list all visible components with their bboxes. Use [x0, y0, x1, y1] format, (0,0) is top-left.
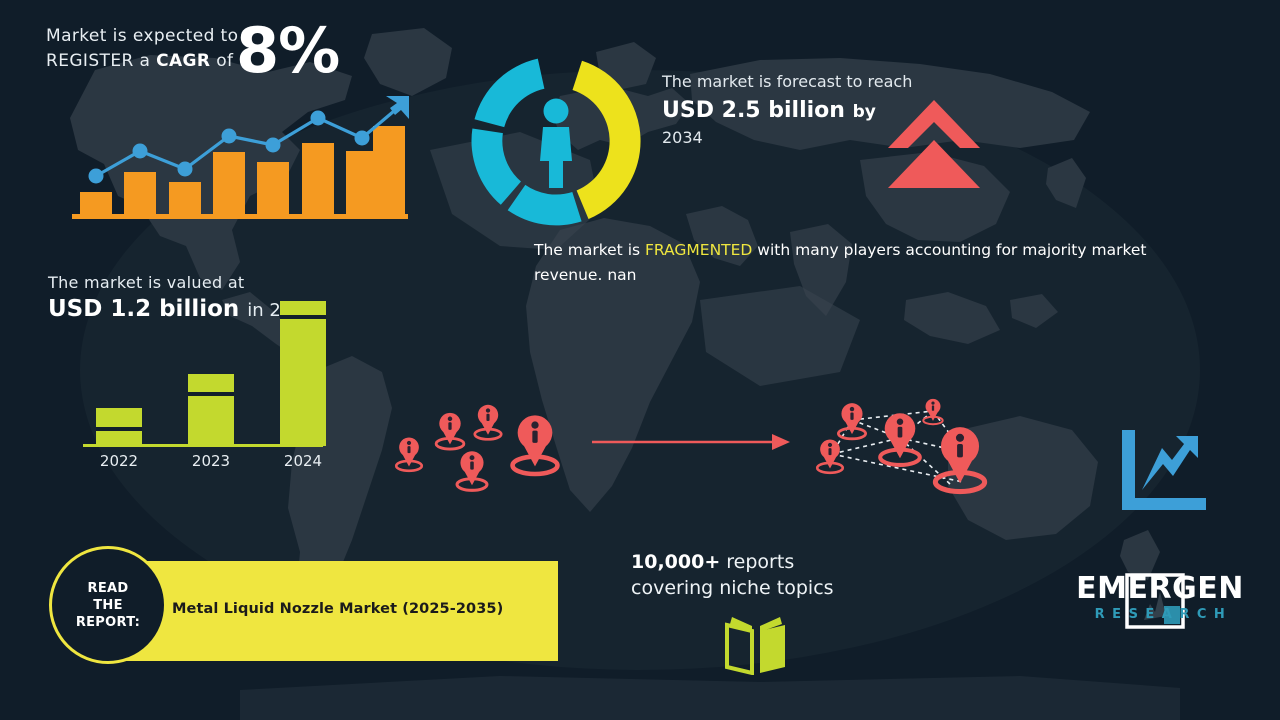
map-pin-person-icon	[475, 405, 501, 440]
map-pin-person-icon	[838, 403, 865, 439]
cagr-register-text: REGISTER a	[46, 51, 156, 71]
fragmented-highlight: FRAGMENTED	[645, 241, 752, 259]
reports-word: reports	[720, 551, 794, 573]
forecast-amount: USD 2.5 billion	[662, 98, 845, 123]
map-pin-person-icon	[935, 427, 984, 491]
logo-subtitle: RESEARCH	[1060, 606, 1260, 624]
map-pin-cluster-right	[800, 386, 1010, 502]
fragmented-statement: The market is FRAGMENTED with many playe…	[534, 238, 1206, 288]
bar-2023	[188, 374, 234, 446]
cagr-block: Market is expected to REGISTER a CAGR of…	[46, 24, 466, 74]
emergen-logo: EMERGEN RESEARCH	[1060, 572, 1260, 624]
map-pin-person-icon	[513, 415, 558, 474]
cta-line-3: REPORT:	[76, 614, 140, 631]
right-arrow-icon	[592, 432, 792, 452]
bar-label-2024: 2024	[284, 452, 322, 470]
map-pin-cluster-left	[382, 388, 572, 494]
infographic-canvas: Market is expected to REGISTER a CAGR of…	[0, 0, 1280, 720]
donut-segment-cyan-top	[475, 59, 545, 128]
bar-2022	[96, 408, 142, 446]
donut-segment-cyan-left	[471, 129, 521, 205]
growth-trend-bar-chart	[68, 88, 413, 220]
reports-count: 10,000+	[631, 551, 720, 573]
map-pin-person-icon	[817, 439, 843, 472]
bar-label-2023: 2023	[192, 452, 230, 470]
reports-count-block: 10,000+ reports covering niche topics	[631, 549, 911, 601]
donut-segment-cyan-bottom	[508, 185, 582, 225]
chart-baseline	[72, 214, 408, 219]
forecast-value: USD 2.5 billion by	[662, 96, 922, 127]
forecast-block: The market is forecast to reach USD 2.5 …	[662, 70, 922, 148]
line-chart-up-icon	[1118, 428, 1210, 514]
bar-chart-baseline	[83, 444, 323, 447]
map-pin-person-icon	[436, 413, 464, 449]
reports-line-1: 10,000+ reports	[631, 549, 911, 575]
donut-segment-yellow	[573, 61, 641, 219]
double-chevron-up-icon	[884, 96, 984, 190]
cta-line-2: THE	[93, 597, 123, 614]
person-icon	[540, 99, 572, 189]
forecast-lead-text: The market is forecast to reach	[662, 70, 922, 93]
market-share-donut	[463, 48, 649, 234]
cta-line-1: READ	[88, 580, 129, 597]
cagr-of-text: of	[210, 51, 233, 71]
read-report-label[interactable]: READ THE REPORT:	[49, 546, 167, 664]
map-pin-person-icon	[880, 413, 920, 465]
reports-line-2: covering niche topics	[631, 575, 911, 601]
open-book-icon	[722, 613, 790, 675]
valuation-lead-text: The market is valued at	[48, 272, 378, 294]
market-value-bar-chart: 2022 2023 2024	[78, 296, 338, 472]
fragmented-pre: The market is	[534, 241, 645, 259]
forecast-year: 2034	[662, 127, 922, 148]
forecast-by-text: by	[853, 102, 876, 122]
bar-label-2022: 2022	[100, 452, 138, 470]
cagr-label: CAGR	[156, 51, 210, 71]
map-pin-person-icon	[457, 451, 487, 490]
report-title[interactable]: Metal Liquid Nozzle Market (2025-2035)	[172, 601, 503, 617]
logo-wordmark: EMERGEN	[1060, 572, 1260, 606]
bar-2024	[280, 301, 326, 446]
map-pin-person-icon	[396, 437, 422, 470]
cagr-value: 8%	[236, 20, 339, 82]
